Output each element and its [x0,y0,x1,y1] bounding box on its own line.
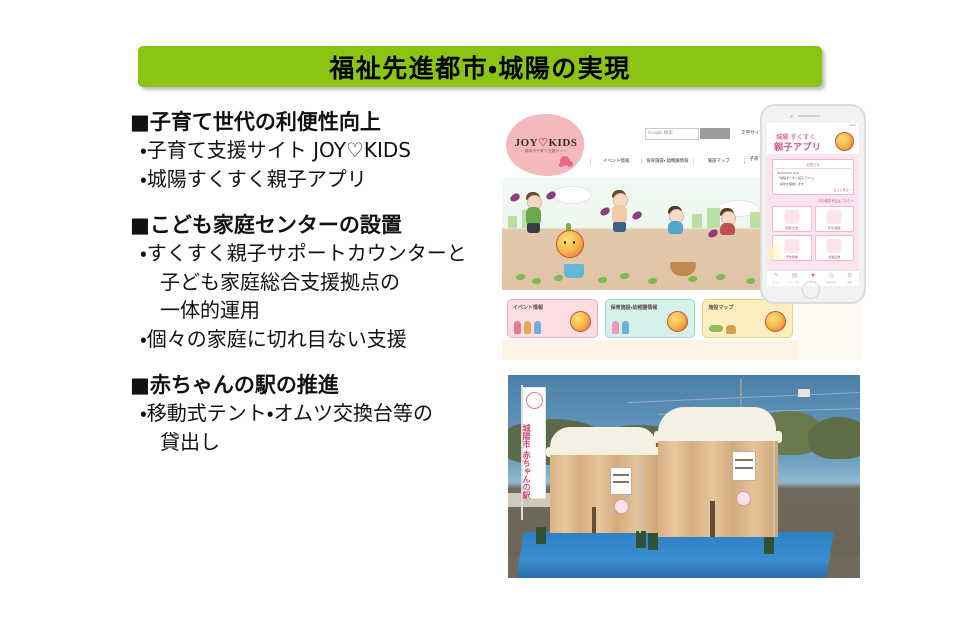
site-logo-right: KIDS [548,137,577,149]
tent-pole [773,441,775,537]
pencil-icon: ✎ [767,273,785,279]
app-tile-growth-record[interactable]: 成長記録 [815,235,855,261]
basket-icon [670,262,696,276]
gear-icon: ⚙ [841,273,859,279]
site-logo-subtitle: 城陽市子育て支援サイト [512,149,580,154]
bell-icon: ◎ [822,273,840,279]
tent-body [550,455,658,533]
app-tile-pregnancy[interactable]: 妊娠・出産 [772,206,812,232]
heart-icon: ♡ [538,137,548,149]
tent-pole [639,455,641,533]
tent-sign [732,451,756,481]
section-heading: ■子育て世代の利便性向上 [130,108,490,136]
nav-item-map[interactable]: 施設マップ [694,158,745,164]
tab-label: きろく [767,280,785,284]
tab-settings[interactable]: ⚙ 設定 [841,271,859,286]
tree-foliage [808,417,860,459]
app-screen: 9:41 城陽 すくすく 親子アプリ お知らせ 2025.03.01 New 「… [767,123,859,286]
tab-label: 設定 [841,280,859,284]
list-item: ・城陽すくすく親子アプリ [130,165,490,193]
site-footer-strip [502,340,798,360]
search-button[interactable] [700,128,730,139]
banner-text-wrap: 城陽市 赤ちゃんの駅 [508,398,530,480]
notice-panel: お知らせ 2025.03.01 New 「城陽すくすく親子アプリ」 提供を開始し… [772,159,854,195]
card-events[interactable]: イベント情報 [507,299,598,338]
tent-door-opening [710,501,715,537]
mascot-icon [765,311,786,332]
tab-record[interactable]: ✎ きろく [767,271,785,286]
site-hero-illustration [502,178,798,290]
home-icon: ♥ [804,273,822,279]
mascot-icon [667,311,688,332]
baby-station-badge [614,499,629,514]
checkup-link[interactable]: 次の検診予定はこちら > [767,198,853,203]
site-category-cards: イベント情報 保育施設・幼稚園情報 施設マップ [502,294,798,338]
mascot-icon [556,230,584,258]
app-tile-childcare[interactable]: 育児・相談 [815,206,855,232]
distant-flag [798,389,810,397]
list-item-continuation: 一体的運用 [130,296,490,324]
power-line [628,392,860,403]
tent-weight [764,537,774,554]
tent-weight [648,533,658,550]
card-figures [514,321,541,334]
card-label: 施設マップ [708,304,733,311]
app-header: 城陽 すくすく 親子アプリ [767,128,859,154]
card-figures [709,325,736,334]
section-heading: ■こども家庭センターの設置 [130,211,490,239]
list-item: ・移動式テント・オムツ交換台等の [130,399,490,427]
blue-tarp [516,532,833,578]
nav-item-events[interactable]: イベント情報 [590,158,642,164]
site-logo: JOY♡KIDS [512,136,580,149]
list-item-text-after: KIDS [364,138,411,162]
card-facility-map[interactable]: 施設マップ [702,299,793,338]
page-title: 福祉先進都市・城陽の実現 [329,49,631,85]
tile-label: 育児・相談 [816,226,854,230]
notice-line: 「城陽すくすく親子アプリ」 [775,176,851,180]
card-label: 保育施設・幼稚園情報 [611,304,658,311]
list-item: ・個々の家庭に切れ目ない支援 [130,325,490,353]
list-item-text: ・子育て支援サイト JOY [140,138,346,162]
slide-title-banner: 福祉先進都市・城陽の実現 [138,46,822,87]
list-item-continuation: 子ども家庭総合支援拠点の [130,268,490,296]
bullet-section-2: ■こども家庭センターの設置 ・すくすく親子サポートカウンターと 子ども家庭総合支… [130,211,490,353]
bullet-section-1: ■子育て世代の利便性向上 ・子育て支援サイト JOY♡KIDS ・城陽すくすく親… [130,108,490,193]
website-page: JOY♡KIDS 城陽市子育て支援サイト Google 検索 文字サイズ イベン… [502,112,798,360]
skyline-decoration [502,206,798,228]
list-item: ・すくすく親子サポートカウンターと [130,239,490,267]
bullet-section-3: ■赤ちゃんの駅の推進 ・移動式テント・オムツ交換台等の 貸出し [130,371,490,456]
list-item-continuation: 貸出し [130,428,490,456]
tab-label: お知らせ [822,280,840,284]
section-heading: ■赤ちゃんの駅の推進 [130,371,490,399]
growth-record-icon [827,239,842,253]
notice-line: 提供を開始します [775,182,851,186]
notice-more-link[interactable]: もっと見る > [775,188,851,192]
vaccination-icon [784,239,799,253]
card-label: イベント情報 [513,304,543,311]
card-figures [612,321,629,334]
flower-icon [560,156,570,166]
tab-label: カレンダー [785,280,803,284]
home-button[interactable] [802,281,820,299]
tent-photo-image: 城陽市 赤ちゃんの駅 [508,375,860,578]
tab-notifications[interactable]: ◎ お知らせ [822,271,840,286]
tent-weight [536,527,546,544]
mascot-icon [835,132,854,151]
cloud-icon [552,186,592,204]
nav-item-nursery[interactable]: 保育施設・ 幼稚園情報 [642,158,693,164]
heart-icon: ♡ [346,138,364,162]
app-title-line2: 親子アプリ [774,140,822,153]
card-nursery-info[interactable]: 保育施設・幼稚園情報 [605,299,696,338]
tent-body [658,441,778,537]
speaker-icon [798,115,820,117]
notice-line: 2025.03.01 New [775,171,851,175]
tent-sign [610,467,632,495]
phone-mockup: 9:41 城陽 すくすく 親子アプリ お知らせ 2025.03.01 New 「… [760,104,866,304]
pregnancy-icon [784,210,799,224]
tile-label: 妊娠・出産 [773,226,811,230]
calendar-icon: ▤ [785,273,803,279]
childcare-icon [827,210,842,224]
tab-calendar[interactable]: ▤ カレンダー [785,271,803,286]
decorative-rays [767,242,785,264]
tile-label: 成長記録 [816,255,854,259]
camera-icon [790,115,793,118]
list-item: ・子育て支援サイト JOY♡KIDS [130,136,490,164]
bucket-icon [564,264,584,278]
banner-text: 城陽市 赤ちゃんの駅 [508,422,530,500]
site-logo-left: JOY [515,137,539,149]
tent-weight [636,531,646,548]
bullet-column: ■子育て世代の利便性向上 ・子育て支援サイト JOY♡KIDS ・城陽すくすく親… [130,108,490,474]
baby-station-badge [736,491,751,506]
mascot-icon [570,311,591,332]
tent-door-opening [592,507,596,533]
notice-header: お知らせ [775,162,851,169]
search-placeholder: Google 検索 [648,130,673,136]
